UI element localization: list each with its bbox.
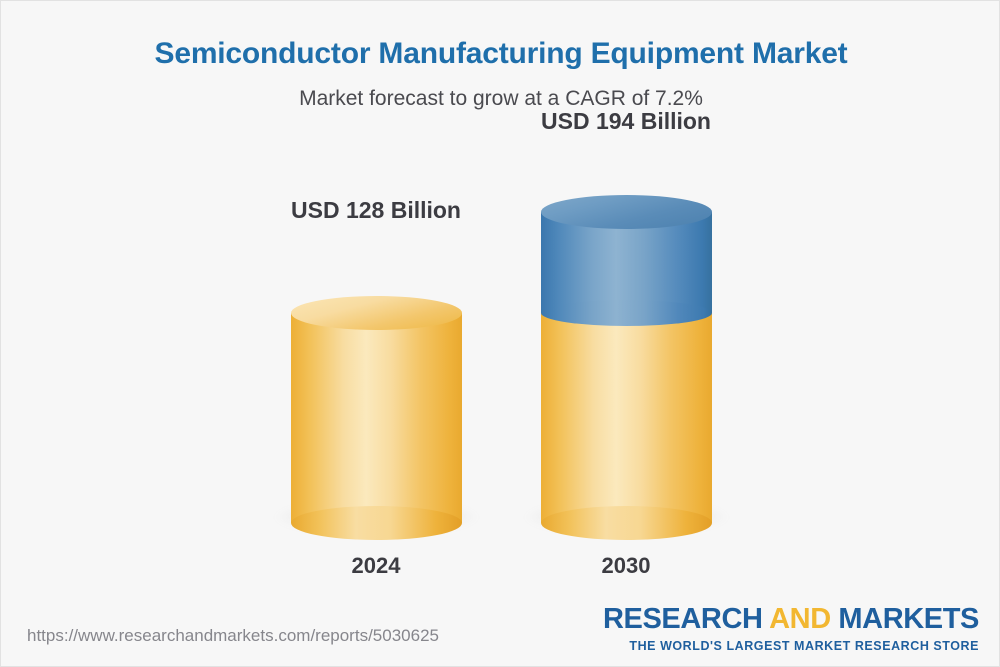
bar-category-label-2024: 2024 — [261, 553, 491, 579]
bar-bottom-cap — [291, 506, 462, 540]
chart-plot-area: USD 128 Billion 2024 USD 194 Billion — [1, 1, 1000, 601]
bar-segment-base-2024 — [291, 313, 462, 523]
bar-segment-base-2030 — [541, 313, 712, 523]
brand-logo-wordmark: RESEARCH AND MARKETS — [603, 605, 979, 634]
bar-group-2030: USD 194 Billion 2030 — [511, 103, 741, 523]
bar-value-label-2024: USD 128 Billion — [261, 197, 491, 224]
bar-bottom-cap — [541, 506, 712, 540]
brand-logo[interactable]: RESEARCH AND MARKETS THE WORLD'S LARGEST… — [603, 605, 979, 653]
brand-word-markets: MARKETS — [831, 603, 979, 635]
bar-segment-growth-2030 — [541, 212, 712, 313]
bar-category-label-2030: 2030 — [511, 553, 741, 579]
brand-word-research: RESEARCH — [603, 603, 769, 635]
bar-group-2024: USD 128 Billion 2024 — [261, 103, 491, 523]
bar-top-cap — [541, 195, 712, 229]
bar-top-cap — [291, 296, 462, 330]
cylinder-bar-2030 — [541, 212, 712, 523]
bar-segment-seam — [541, 300, 712, 326]
bar-segment-body — [541, 313, 712, 523]
infographic-canvas: Semiconductor Manufacturing Equipment Ma… — [0, 0, 1000, 667]
bar-value-label-2030: USD 194 Billion — [511, 108, 741, 135]
cylinder-bar-2024 — [291, 313, 462, 523]
brand-word-and: AND — [769, 603, 831, 635]
source-url-link[interactable]: https://www.researchandmarkets.com/repor… — [27, 626, 439, 646]
brand-tagline: THE WORLD'S LARGEST MARKET RESEARCH STOR… — [603, 639, 979, 653]
chart-footer: https://www.researchandmarkets.com/repor… — [1, 596, 1000, 666]
bar-segment-body — [291, 313, 462, 523]
